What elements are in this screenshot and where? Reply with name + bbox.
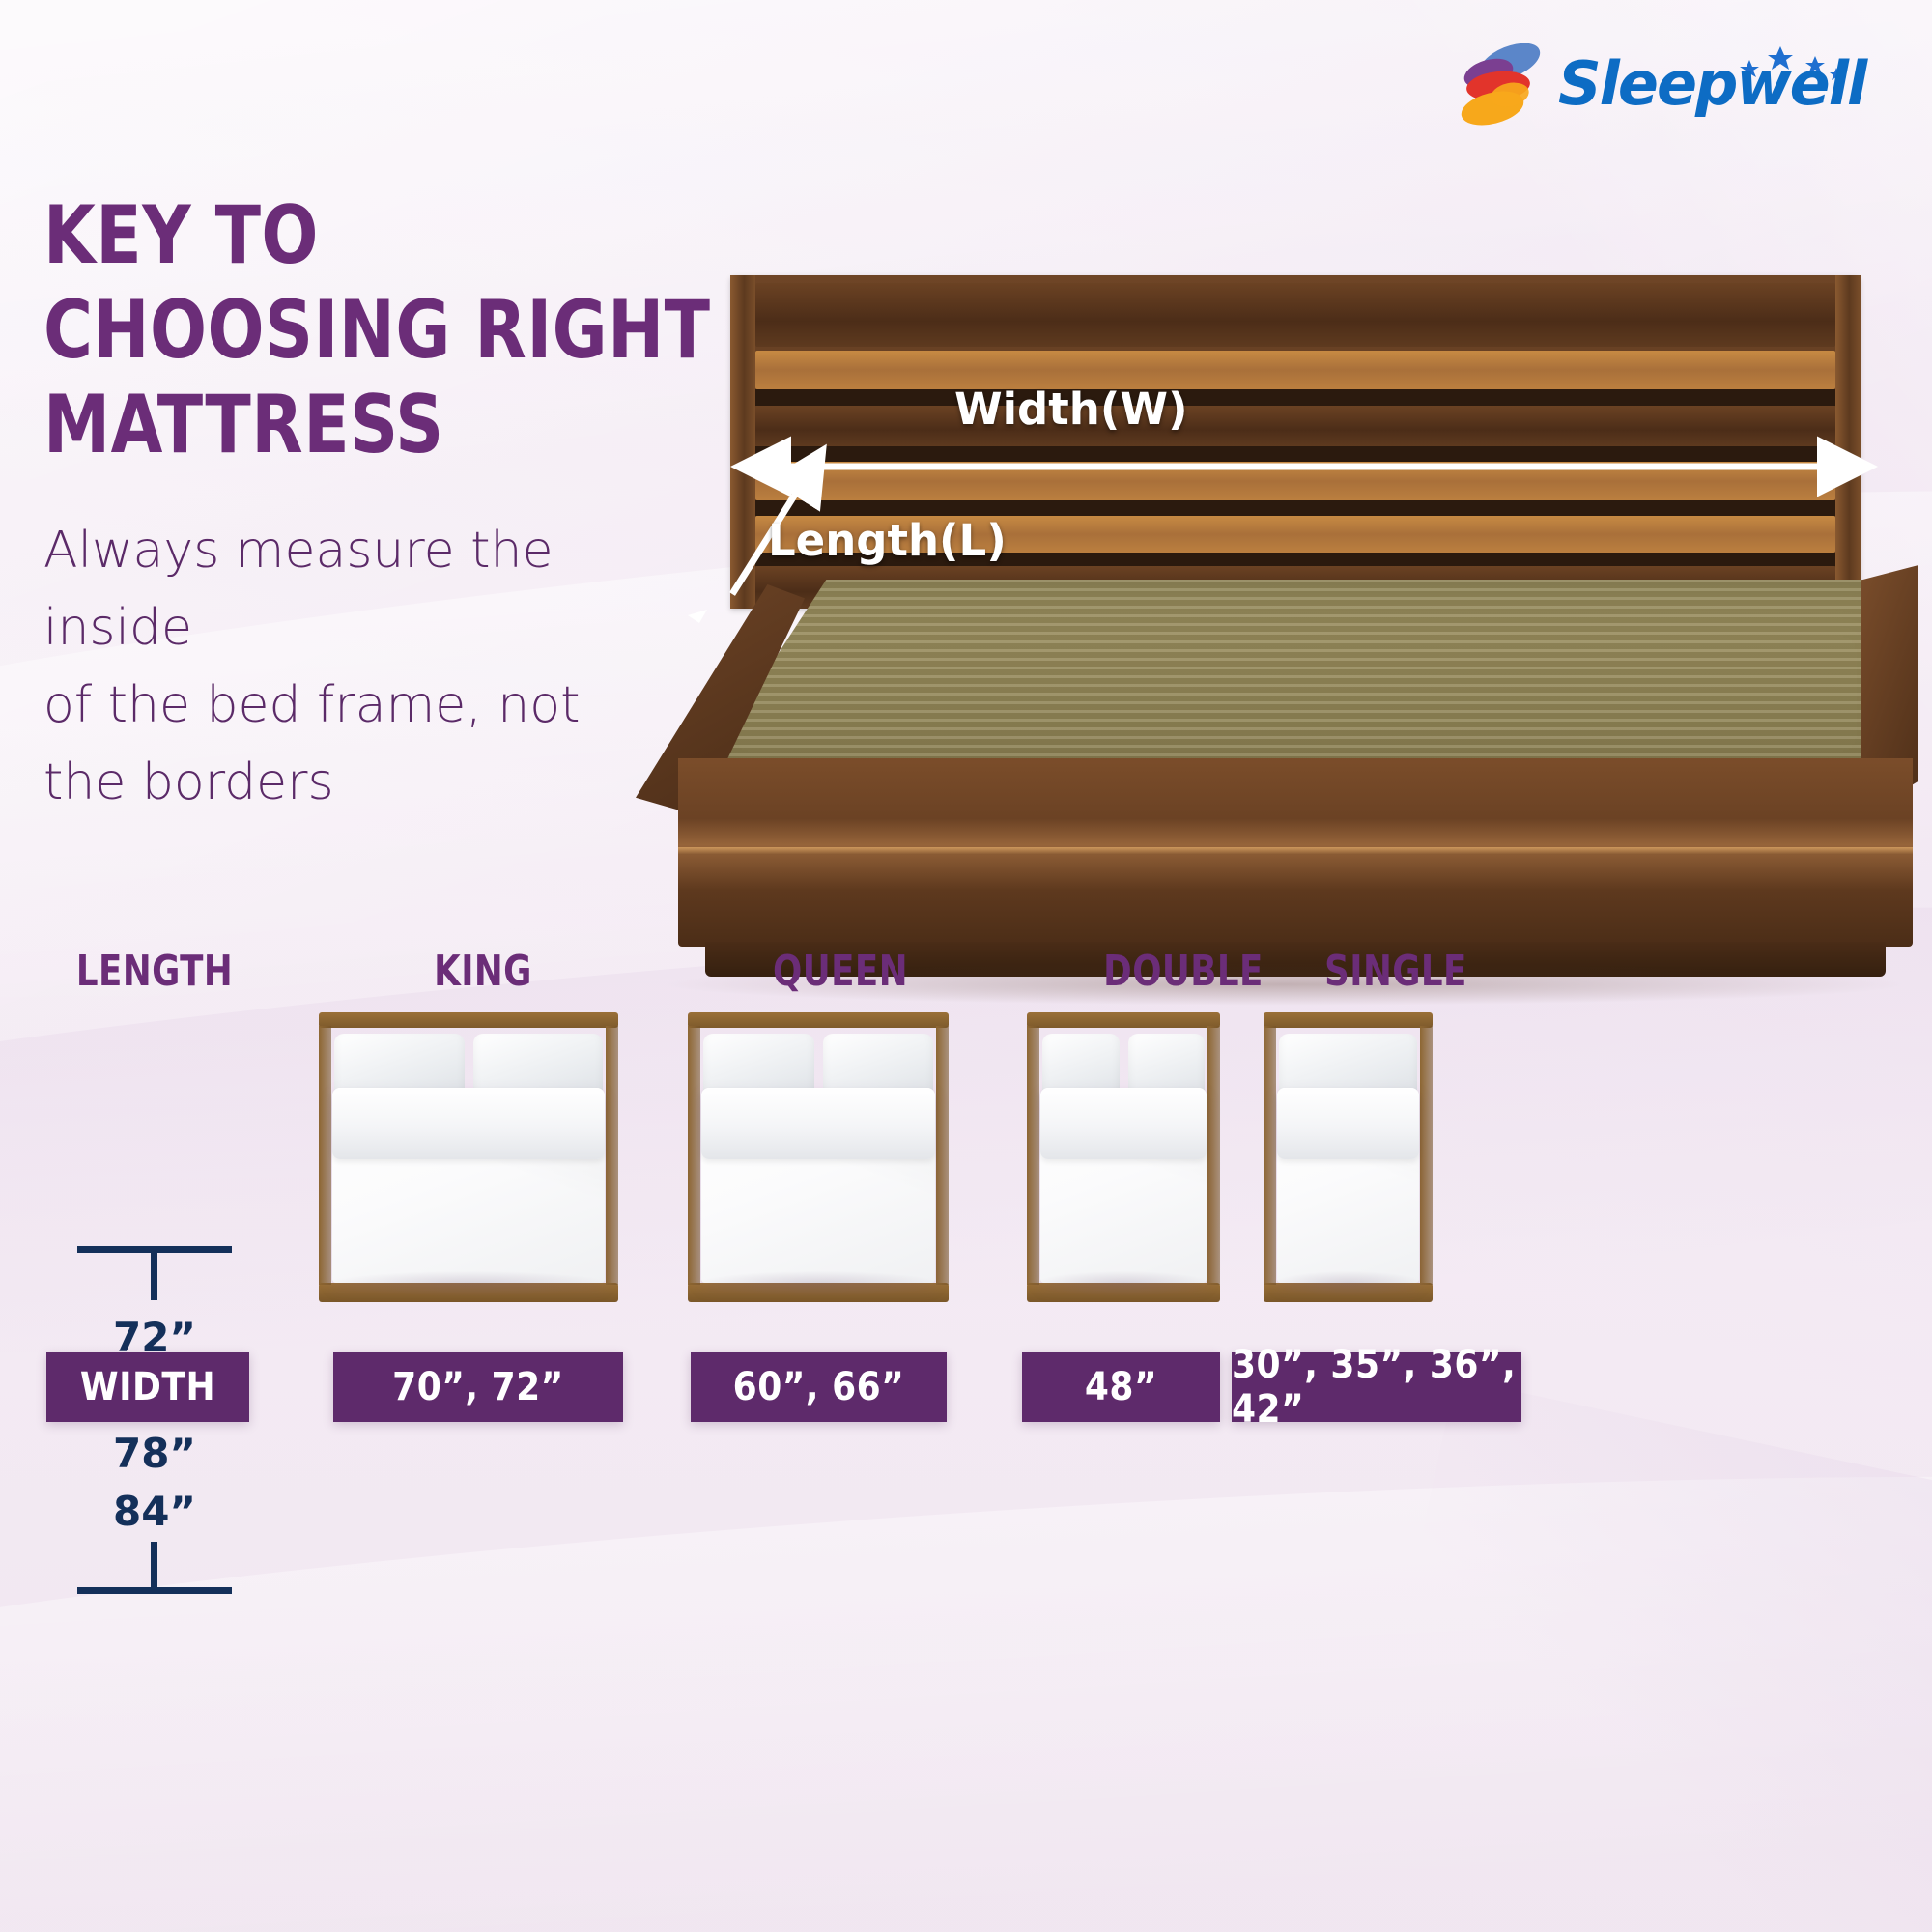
ruler-bottom-bar [77, 1587, 232, 1594]
bed-frame-illustration: Width(W) Length(L) [618, 275, 1913, 797]
bed-illustration-king [319, 1012, 618, 1302]
row-label-length: LENGTH [50, 947, 259, 996]
subtitle-line-1: Always measure the inside [43, 512, 662, 667]
bed-illustration-single [1264, 1012, 1433, 1302]
column-header-king: KING [353, 947, 613, 996]
bed-rail-left [1264, 1026, 1276, 1285]
bed-headboard [1264, 1012, 1433, 1028]
duvet-fold [701, 1088, 935, 1159]
width-dimension-label: Width(W) [954, 384, 1188, 435]
infographic-canvas: Sleepwell KEY TO CHOOSING RIGHT MATTRESS… [0, 0, 1932, 1932]
bed-rail-left [1027, 1026, 1039, 1285]
col-label-width: WIDTH [46, 1352, 249, 1422]
page-subtitle: Always measure the inside of the bed fra… [43, 512, 662, 821]
bed-headboard [688, 1012, 949, 1028]
bed-rail-right [936, 1026, 949, 1285]
bed-shadow [1037, 1271, 1210, 1296]
ruler-top-stem [151, 1250, 157, 1300]
duvet-fold [1040, 1088, 1207, 1159]
dimension-arrows [618, 275, 1913, 1009]
headline-line-1: KEY TO [43, 188, 691, 283]
bed-rail-right [1420, 1026, 1433, 1285]
bed-rail-right [606, 1026, 618, 1285]
ruler-bottom-stem [151, 1542, 157, 1590]
headline-line-3: MATTRESS [43, 378, 691, 472]
brand-logo: Sleepwell [1454, 37, 1860, 133]
column-header-single: SINGLE [1265, 947, 1526, 996]
bed-headboard [319, 1012, 618, 1028]
bed-shadow [328, 1271, 609, 1296]
subtitle-line-2: of the bed frame, not [43, 667, 662, 744]
width-chip-double: 48” [1022, 1352, 1220, 1422]
width-chip-queen: 60”, 66” [691, 1352, 947, 1422]
sleepwell-swirl-icon [1454, 41, 1547, 129]
headline-line-2: CHOOSING RIGHT [43, 283, 691, 378]
length-dimension-label: Length(L) [768, 515, 1007, 566]
mattress-size-table: LENGTH 72” 75” 78” 84” KING QUEEN DOUBLE… [0, 927, 1932, 1932]
duvet-fold [332, 1088, 605, 1159]
bed-shadow [697, 1271, 939, 1296]
width-chip-king: 70”, 72” [333, 1352, 623, 1422]
subtitle-line-3: the borders [43, 744, 662, 821]
bed-shadow [1273, 1271, 1423, 1296]
length-value: 84” [77, 1488, 232, 1535]
bed-rail-left [688, 1026, 700, 1285]
bed-rail-right [1207, 1026, 1220, 1285]
column-header-queen: QUEEN [710, 947, 971, 996]
bed-illustration-queen [688, 1012, 949, 1302]
bed-illustration-double [1027, 1012, 1220, 1302]
brand-wordmark: Sleepwell [1558, 48, 1865, 119]
duvet-fold [1277, 1088, 1419, 1159]
width-chip-single: 30”, 35”, 36”, 42” [1232, 1352, 1521, 1422]
bed-rail-left [319, 1026, 331, 1285]
bed-headboard [1027, 1012, 1220, 1028]
length-value: 78” [77, 1430, 232, 1477]
